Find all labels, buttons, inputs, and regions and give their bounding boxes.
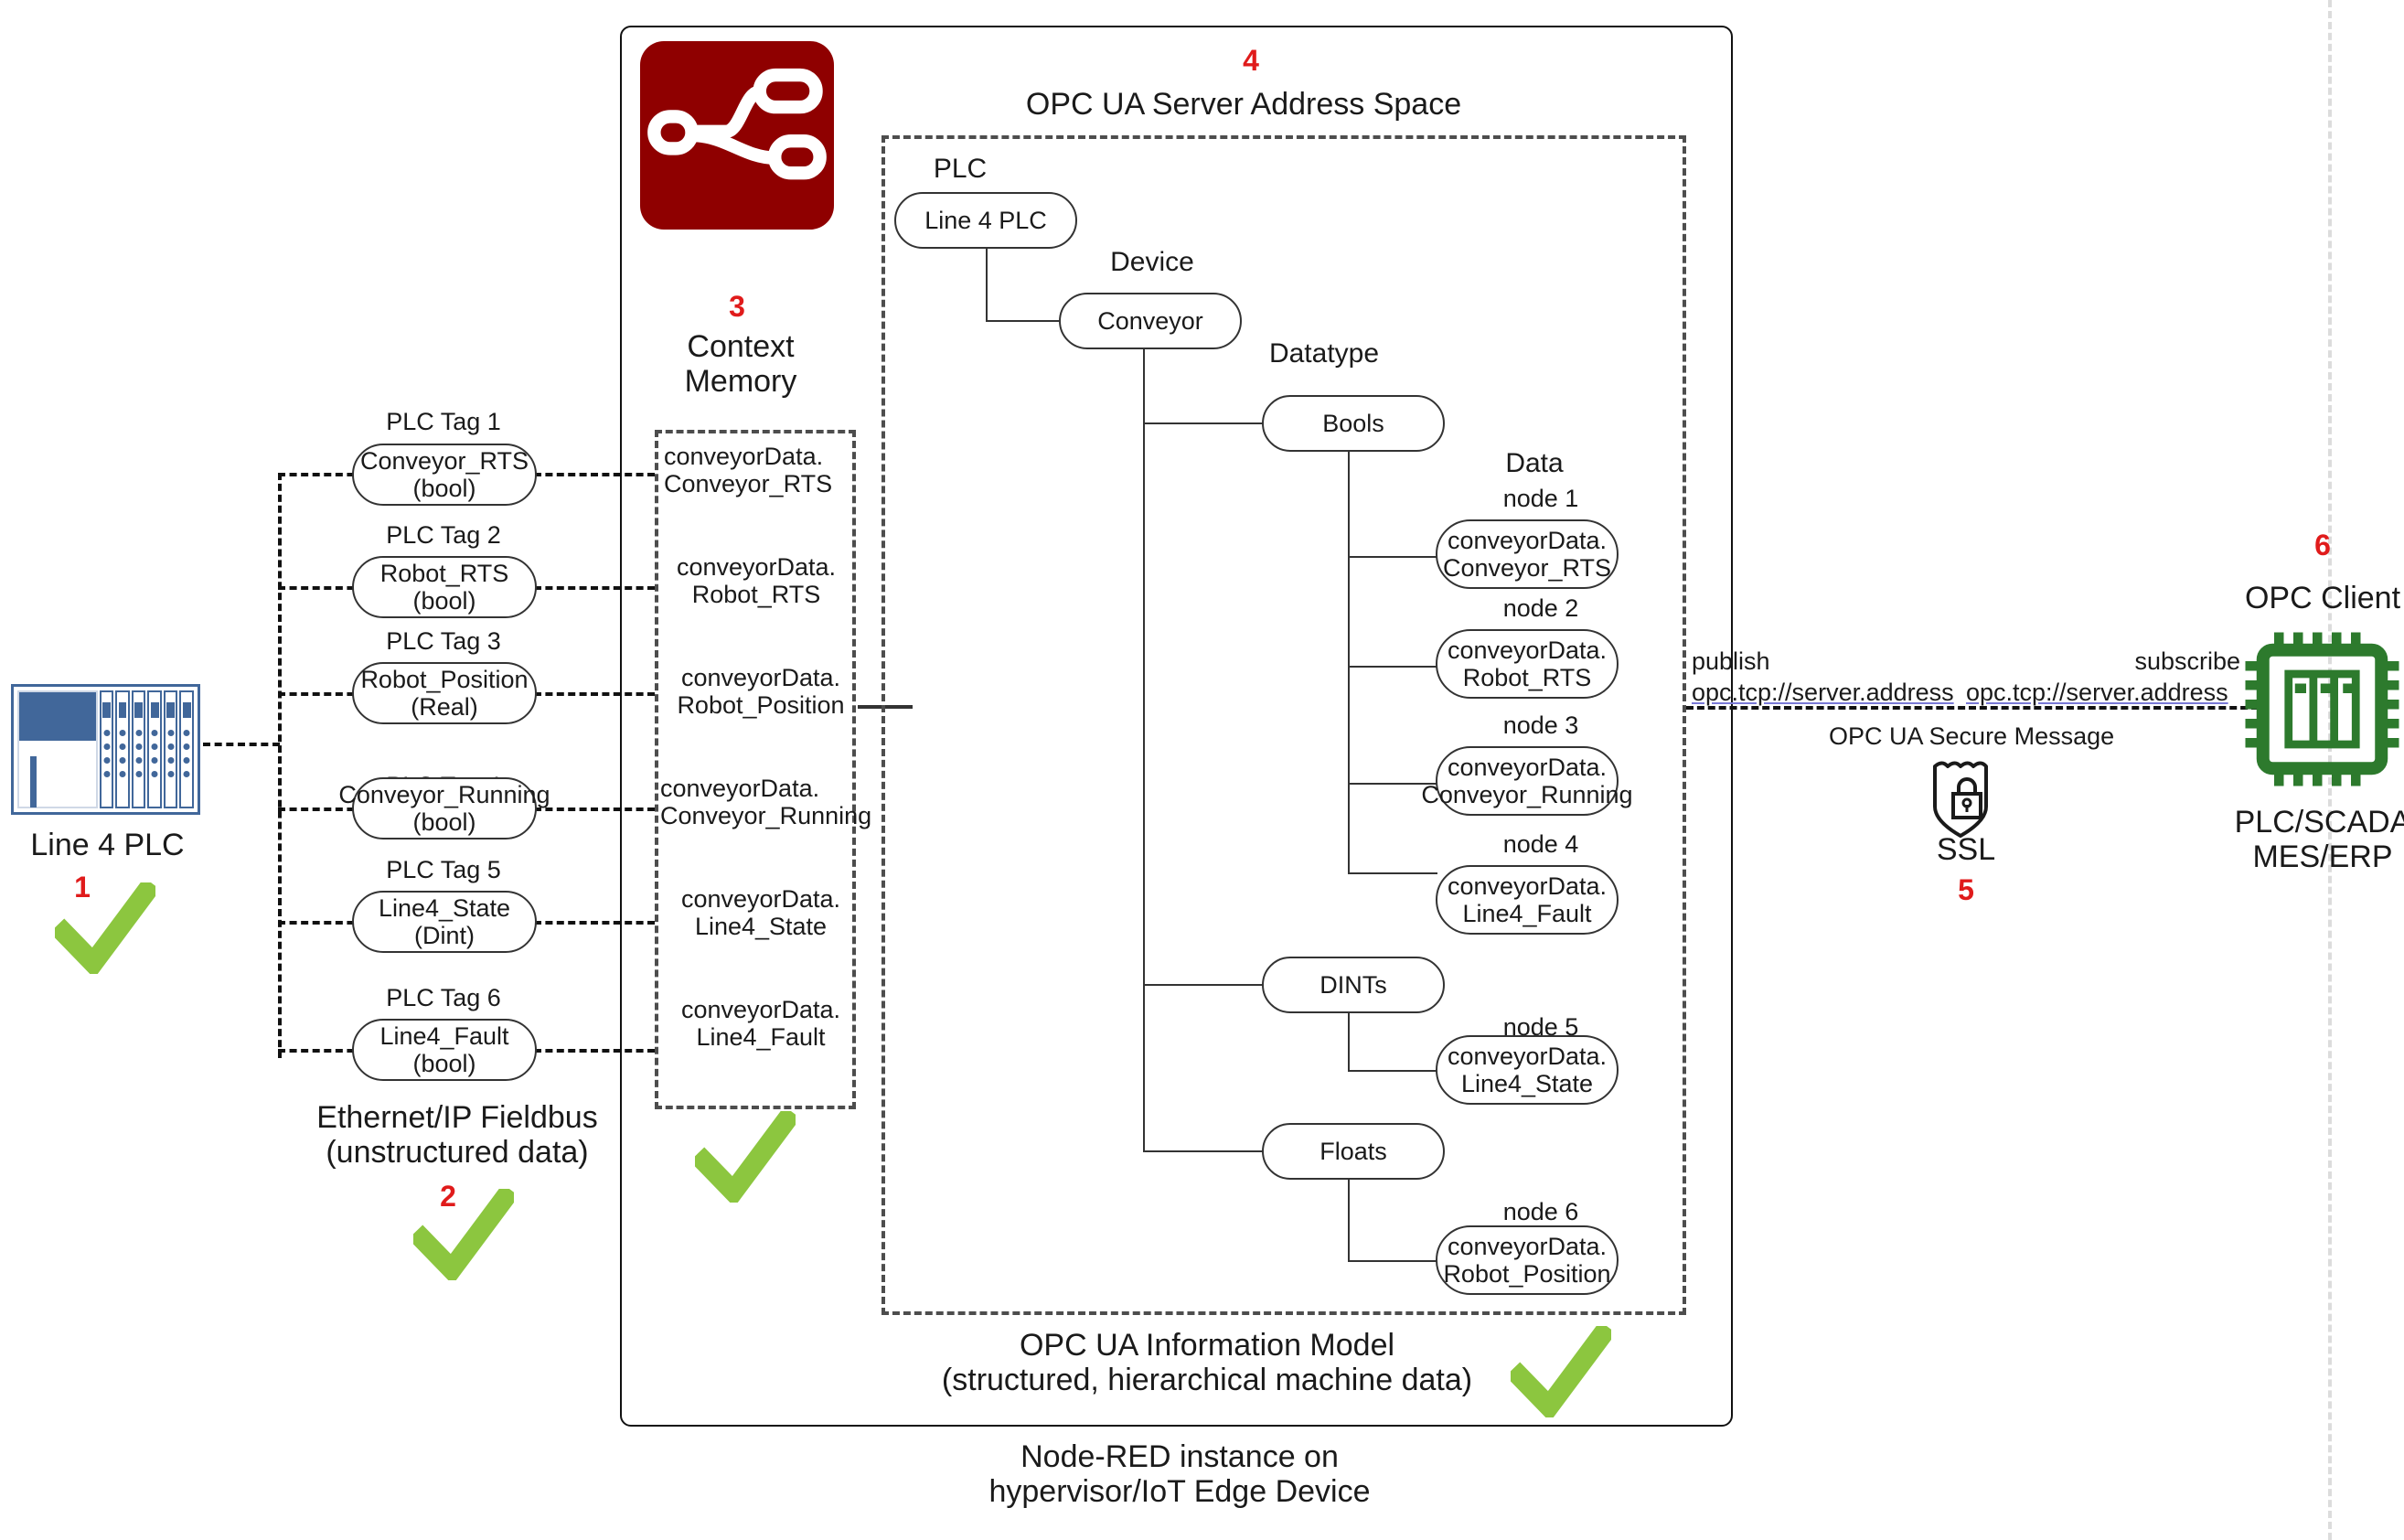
information-model-caption: OPC UA Information Model (structured, hi… — [914, 1328, 1500, 1397]
address-node-datatype-label: DINTs — [1320, 971, 1387, 999]
address-node-data: conveyorData. Line4_State — [1436, 1035, 1619, 1105]
fieldbus-trunk-vertical — [278, 473, 282, 1058]
cpu-chip-icon — [2242, 629, 2402, 794]
node-red-box-caption: Node-RED instance on hypervisor/IoT Edge… — [914, 1439, 1445, 1509]
column-header-datatype: Datatype — [1223, 338, 1425, 369]
address-node-data: conveyorData. Conveyor_RTS — [1436, 519, 1619, 589]
tree-edge — [986, 320, 1061, 322]
context-memory-entry: conveyorData. Conveyor_RTS — [655, 443, 858, 497]
step-number-3: 3 — [691, 290, 783, 324]
address-node-datatype: Floats — [1262, 1123, 1445, 1180]
tag-to-context-link — [534, 1049, 655, 1053]
node-red-icon — [640, 41, 834, 230]
tree-edge — [1348, 452, 1350, 874]
plc-tag-type: (Dint) — [414, 922, 475, 949]
data-node-caption: node 2 — [1454, 594, 1628, 622]
data-node-caption: node 6 — [1454, 1198, 1628, 1225]
subscribe-url: opc.tcp://server.address — [1966, 679, 2240, 706]
tree-edge — [1348, 666, 1437, 668]
address-node-datatype-label: Floats — [1320, 1138, 1387, 1165]
publish-label: publish — [1692, 647, 1820, 675]
plc-label: Line 4 PLC — [9, 828, 206, 862]
column-header-device: Device — [1079, 247, 1225, 278]
address-space-title: OPC UA Server Address Space — [878, 87, 1609, 122]
data-node-caption: node 3 — [1454, 711, 1628, 739]
tree-edge — [1143, 422, 1264, 424]
plc-tag-node: Robot_RTS (bool) — [352, 556, 537, 618]
opc-client-title: OPC Client — [2195, 581, 2404, 615]
shield-lock-icon — [1929, 757, 2004, 844]
context-memory-entry: conveyorData. Robot_RTS — [655, 553, 858, 608]
plc-rack-icon — [11, 684, 200, 815]
address-node-data-label: conveyorData. Line4_State — [1448, 1043, 1607, 1097]
tag-to-context-link — [534, 473, 655, 476]
address-node-datatype-label: Bools — [1322, 410, 1384, 437]
tree-edge — [1143, 984, 1264, 986]
tree-edge — [1348, 1180, 1350, 1262]
tag-to-context-link — [534, 921, 655, 925]
plc-tag-node: Conveyor_RTS (bool) — [352, 444, 537, 506]
plc-tag-name: Robot_RTS — [380, 560, 509, 587]
column-header-plc: PLC — [914, 154, 1006, 185]
plc-tag-type: (bool) — [412, 475, 475, 502]
tree-edge — [986, 249, 988, 322]
step-number-5: 5 — [1948, 873, 1984, 907]
step-number-4: 4 — [1233, 44, 1269, 78]
address-node-data-label: conveyorData. Line4_Fault — [1448, 872, 1607, 927]
address-node-data: conveyorData. Robot_Position — [1436, 1225, 1619, 1295]
plc-tag-type: (bool) — [412, 808, 475, 836]
plc-tag-type: (bool) — [412, 587, 475, 615]
address-node-data-label: conveyorData. Robot_Position — [1443, 1233, 1610, 1288]
plc-tag-name: Line4_Fault — [379, 1022, 508, 1050]
opc-client-subtitle: PLC/SCADA MES/ERP — [2190, 805, 2404, 874]
plc-tag-node: Conveyor_Running (bool) — [352, 777, 537, 840]
address-node-datatype: Bools — [1262, 395, 1445, 452]
plc-tag-caption: PLC Tag 1 — [352, 408, 535, 435]
tag-to-context-link — [534, 586, 655, 590]
address-node-device-label: Conveyor — [1097, 307, 1203, 335]
context-memory-title: Context Memory — [631, 329, 850, 399]
subscribe-label: subscribe — [2085, 647, 2240, 675]
tag-to-context-link — [534, 807, 655, 811]
address-node-data: conveyorData. Robot_RTS — [1436, 629, 1619, 699]
plc-tag-type: (bool) — [412, 1050, 475, 1077]
tag-to-context-link — [534, 692, 655, 696]
address-node-data-label: conveyorData. Conveyor_RTS — [1443, 527, 1611, 582]
plc-tag-name: Robot_Position — [360, 666, 528, 693]
address-node-data: conveyorData. Conveyor_Running — [1436, 746, 1619, 816]
address-node-plc: Line 4 PLC — [894, 192, 1077, 249]
plc-tag-name: Line4_State — [379, 894, 510, 922]
tree-edge — [1348, 1260, 1437, 1262]
tree-edge — [1348, 872, 1437, 874]
plc-tag-name: Conveyor_Running — [338, 781, 550, 808]
publish-url: opc.tcp://server.address — [1692, 679, 1975, 706]
diagram-canvas: 3 Context Memory conveyorData. Conveyor_… — [0, 0, 2404, 1540]
address-node-data: conveyorData. Line4_Fault — [1436, 865, 1619, 935]
tree-edge — [1348, 1013, 1350, 1072]
data-node-caption: node 1 — [1454, 485, 1628, 512]
plc-tag-node: Line4_Fault (bool) — [352, 1019, 537, 1081]
plc-tag-caption: PLC Tag 3 — [352, 627, 535, 655]
plc-tag-node: Line4_State (Dint) — [352, 891, 537, 953]
column-header-data: Data — [1461, 448, 1608, 479]
fieldbus-trunk-horizontal — [203, 743, 280, 746]
data-node-caption: node 4 — [1454, 830, 1628, 858]
tree-edge — [1348, 556, 1437, 558]
checkmark-icon — [55, 882, 155, 979]
plc-tag-name: Conveyor_RTS — [360, 447, 529, 475]
plc-tag-caption: PLC Tag 6 — [352, 984, 535, 1011]
checkmark-icon — [413, 1189, 514, 1285]
plc-tag-caption: PLC Tag 2 — [352, 521, 535, 549]
ssl-label: SSL — [1902, 832, 2030, 867]
checkmark-icon — [695, 1111, 796, 1207]
plc-tag-type: (Real) — [411, 693, 478, 721]
secure-message-label: OPC UA Secure Message — [1829, 722, 2103, 750]
tree-edge — [1143, 1150, 1264, 1152]
context-memory-entry: conveyorData. Robot_Position — [655, 664, 867, 719]
context-memory-entry: conveyorData. Line4_State — [655, 885, 867, 940]
address-node-device: Conveyor — [1059, 293, 1242, 349]
context-memory-entry: conveyorData. Line4_Fault — [655, 996, 867, 1051]
address-node-plc-label: Line 4 PLC — [924, 207, 1047, 234]
address-node-data-label: conveyorData. Robot_RTS — [1448, 636, 1607, 691]
step-number-6: 6 — [2304, 529, 2341, 562]
tree-edge — [1143, 349, 1145, 1152]
address-node-data-label: conveyorData. Conveyor_Running — [1421, 754, 1632, 808]
plc-tag-caption: PLC Tag 5 — [352, 856, 535, 883]
address-node-datatype: DINTs — [1262, 957, 1445, 1013]
tree-edge — [1348, 1070, 1437, 1072]
plc-tag-node: Robot_Position (Real) — [352, 662, 537, 724]
context-memory-entry: conveyorData. Conveyor_Running — [651, 775, 863, 829]
opcua-transport-link — [1686, 706, 2259, 710]
checkmark-icon — [1511, 1326, 1611, 1422]
fieldbus-label: Ethernet/IP Fieldbus (unstructured data) — [283, 1100, 631, 1170]
